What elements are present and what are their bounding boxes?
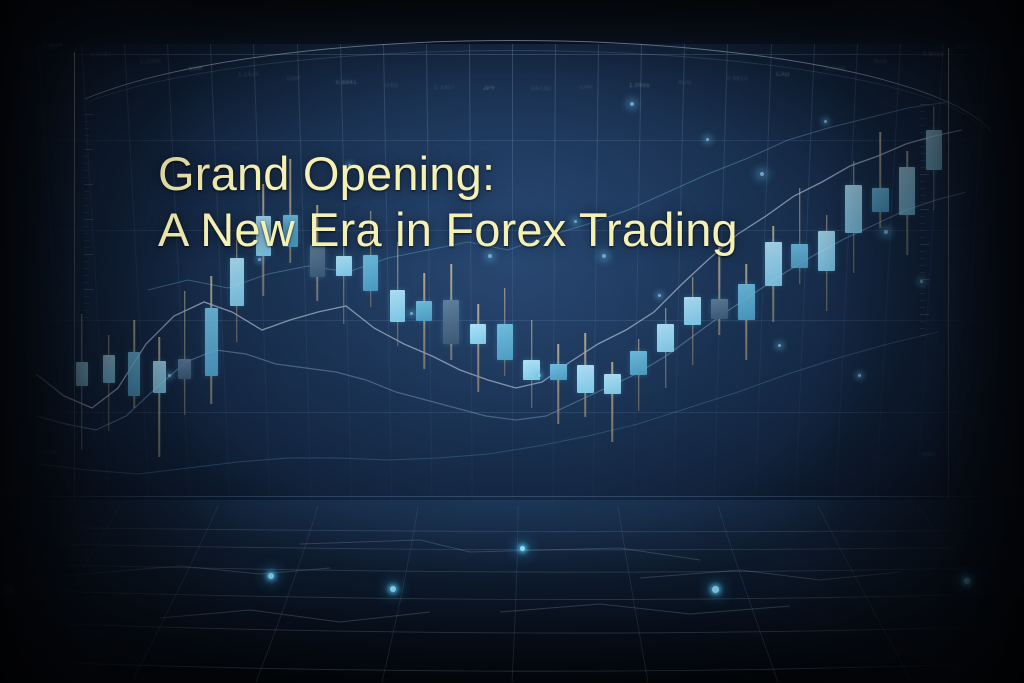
side-vignette (0, 0, 1024, 683)
forex-banner: 1.08340.91871.2065EUR1.1420GBP0.8841USD1… (0, 0, 1024, 683)
